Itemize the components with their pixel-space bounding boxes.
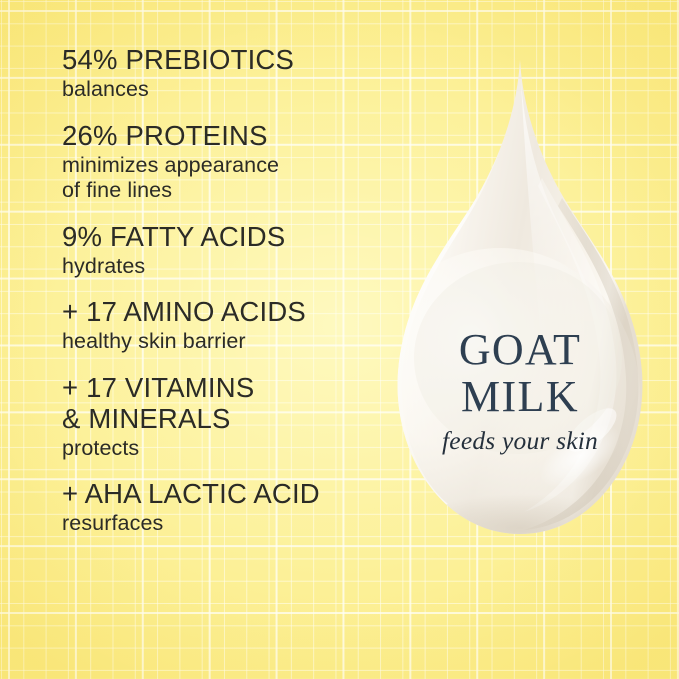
ingredient-headline: 9% FATTY ACIDS (62, 221, 380, 252)
list-item: + 17 AMINO ACIDS healthy skin barrier (62, 296, 380, 355)
ingredient-benefit: hydrates (62, 254, 380, 280)
poster-canvas: 54% PREBIOTICS balances 26% PROTEINS min… (0, 0, 679, 679)
ingredient-headline: + 17 AMINO ACIDS (62, 296, 380, 327)
ingredient-headline: + AHA LACTIC ACID (62, 478, 380, 509)
ingredient-benefit: resurfaces (62, 511, 380, 537)
ingredient-list: 54% PREBIOTICS balances 26% PROTEINS min… (62, 44, 380, 537)
ingredient-benefit: balances (62, 77, 380, 103)
ingredient-headline: 54% PREBIOTICS (62, 44, 380, 75)
droplet-icon (392, 58, 648, 552)
list-item: 9% FATTY ACIDS hydrates (62, 221, 380, 280)
list-item: 54% PREBIOTICS balances (62, 44, 380, 103)
milk-droplet-graphic: GOAT MILK feeds your skin (392, 58, 648, 552)
ingredient-headline: 26% PROTEINS (62, 120, 380, 151)
list-item: + AHA LACTIC ACID resurfaces (62, 478, 380, 537)
ingredient-benefit: protects (62, 436, 380, 462)
ingredient-benefit: minimizes appearance of fine lines (62, 153, 380, 204)
list-item: 26% PROTEINS minimizes appearance of fin… (62, 120, 380, 204)
ingredient-benefit: healthy skin barrier (62, 329, 380, 355)
ingredient-headline: + 17 VITAMINS & MINERALS (62, 372, 380, 434)
list-item: + 17 VITAMINS & MINERALS protects (62, 372, 380, 462)
